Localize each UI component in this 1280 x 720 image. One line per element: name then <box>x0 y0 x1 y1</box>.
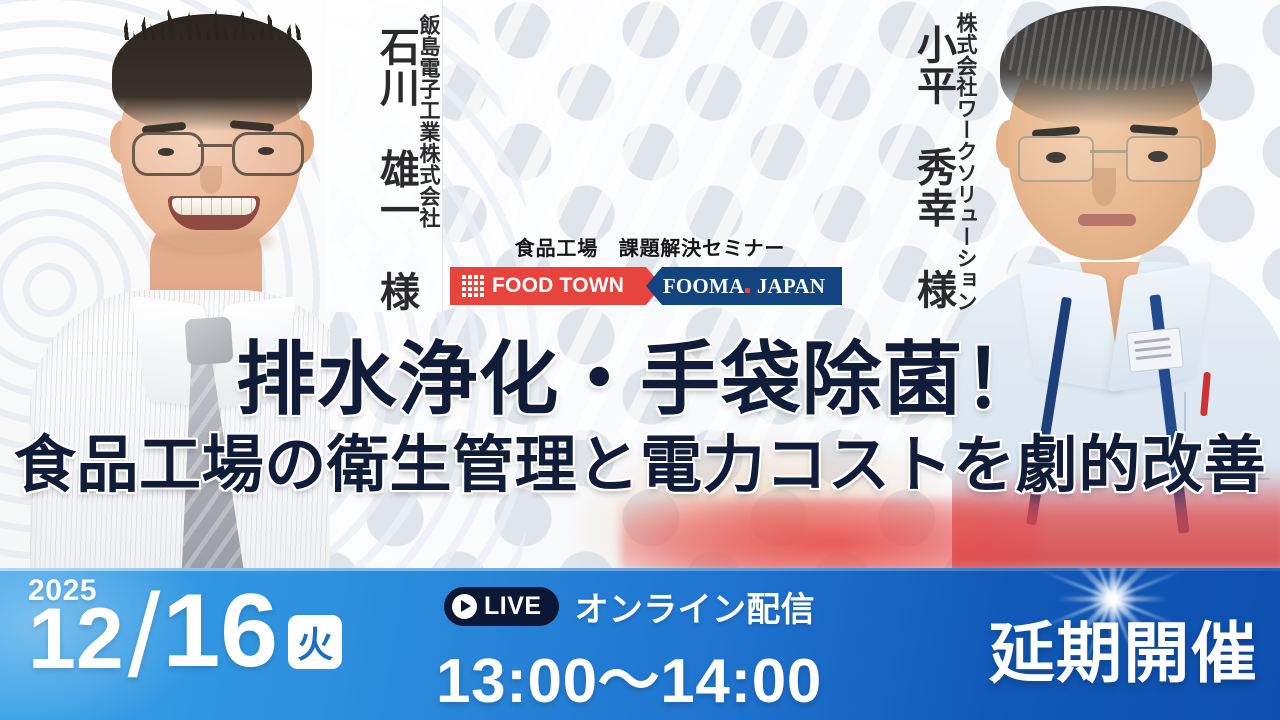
fooma-suffix: JAPAN <box>757 274 825 298</box>
live-label: LIVE <box>484 592 542 621</box>
event-month: 12 <box>28 600 124 679</box>
photo-right-hair-highlights <box>1004 10 1208 90</box>
photo-right-glasses-bridge <box>1090 150 1126 153</box>
photo-right-mouth <box>1078 214 1136 226</box>
speaker-name-card-right: 株式会社ワークソリューション 小平 秀幸 様 <box>852 0 978 316</box>
date-separator: / <box>128 588 161 685</box>
center-red-accent <box>620 498 1040 572</box>
speaker-name-card-left: 飯島電子工業株式会社 石川 雄一 様 <box>325 0 443 312</box>
photo-right-lens-right <box>1126 136 1202 182</box>
speaker-right-company: 株式会社ワークソリューション <box>955 12 976 312</box>
main-title: 排水浄化・手袋除菌！ 食品工場の衛生管理と電力コストを劇的改善 <box>0 340 1280 496</box>
speaker-left-company: 飯島電子工業株式会社 <box>418 14 439 228</box>
banner-top-edge <box>0 568 1280 571</box>
brand-logo-row: FOOD TOWN FOOMA JAPAN <box>450 267 850 305</box>
fooma-japan-logo: FOOMA JAPAN <box>646 267 842 305</box>
photo-right-lens-left <box>1018 136 1094 182</box>
event-day: 16 <box>162 585 278 679</box>
speaker-right-name: 小平 秀幸 様 <box>912 24 953 310</box>
main-title-line1: 排水浄化・手袋除菌！ <box>0 340 1280 420</box>
photo-left-smiling-mouth <box>168 196 260 230</box>
food-town-logo: FOOD TOWN <box>450 267 662 305</box>
main-title-line2: 食品工場の衛生管理と電力コストを劇的改善 <box>0 434 1280 496</box>
event-time: 13:00〜14:00 <box>436 630 822 720</box>
photo-left-lens-left <box>132 132 204 176</box>
fooma-red-dot-icon <box>745 288 750 293</box>
event-info-banner: 2025 12 / 16 火 LIVE オンライン配信 13:00〜14:00 … <box>0 568 1280 720</box>
event-day-of-week-badge: 火 <box>288 615 342 669</box>
fooma-japan-label: FOOMA JAPAN <box>663 274 825 299</box>
play-icon <box>452 594 477 619</box>
live-badge: LIVE <box>444 587 559 626</box>
live-delivery-row: LIVE オンライン配信 <box>444 582 815 631</box>
food-town-label: FOOD TOWN <box>492 274 624 298</box>
photo-left-nose <box>200 166 222 194</box>
photo-right-nose <box>1092 168 1116 206</box>
photo-left-lens-right <box>232 132 304 176</box>
webinar-banner-screenshot: 飯島電子工業株式会社 石川 雄一 様 株式会社ワークソリューション 小平 秀幸 … <box>0 0 1280 720</box>
dot-grid-icon <box>462 275 484 297</box>
fooma-prefix: FOOMA <box>663 274 745 298</box>
online-delivery-label: オンライン配信 <box>575 582 815 631</box>
status-badge: 延期開催 <box>989 600 1258 696</box>
speaker-left-name: 石川 雄一 様 <box>375 26 416 312</box>
seminar-caption: 食品工場 課題解決セミナー <box>450 232 850 261</box>
seminar-logo-block: 食品工場 課題解決セミナー FOOD TOWN FOOMA JAPAN <box>450 232 850 305</box>
event-date-group: 12 / 16 火 <box>28 582 342 679</box>
photo-left-chin-shadow <box>150 228 274 254</box>
photo-left-glasses-bridge <box>198 144 232 147</box>
photo-left-teeth-lines <box>172 198 256 215</box>
